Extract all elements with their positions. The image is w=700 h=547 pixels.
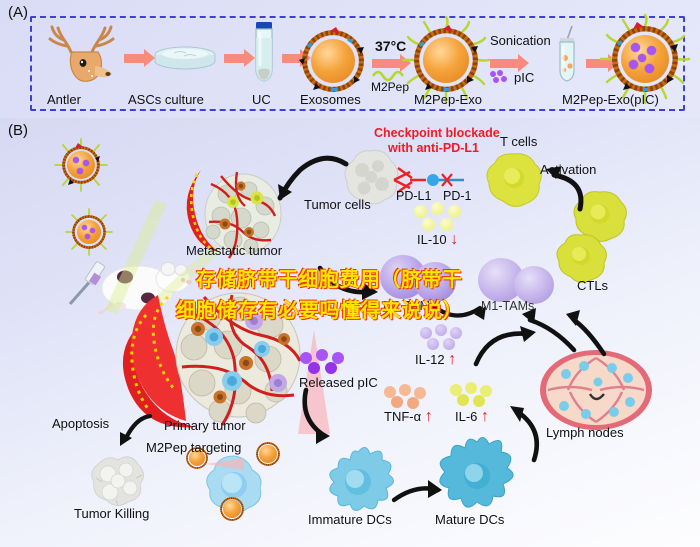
panel-a-label: (A) [8,4,28,21]
arrow-exosomes-to-m2pep-exo [372,59,402,68]
panel-a: (A) Antler AS [0,0,700,118]
targeting-exosome [220,497,244,521]
apoptosis-label: Apoptosis [52,416,109,431]
sonicator-tube-icon [552,26,582,88]
arrow-mature-dcs-up [494,404,544,464]
il-12-cytokine-dot [427,338,439,350]
targeting-beam [204,452,264,482]
lymph-node-illustration [536,348,656,436]
il-12-cytokine-dot [443,338,455,350]
arrow-to-ctls-second [560,300,612,358]
metastatic-tumor-label: Metastatic tumor [186,243,282,258]
watermark-line-1: 存储脐带干细胞费用（脐带干 [196,263,463,292]
il-10-cytokine-dot [414,205,427,218]
tumor-killing-label: Tumor Killing [74,506,149,521]
lymph-nodes-label: Lymph nodes [546,425,624,440]
il-12-up-arrow: ↑ [448,351,456,368]
checkpoint-blockade-line1-label: Checkpoint blockade [374,126,500,140]
released-pic-dots [298,348,370,374]
il-10-text: IL-10 [417,232,447,247]
ctls-label: CTLs [577,278,608,293]
m2pep-exo-pic-particle [612,26,678,92]
panel-a-pic-label: pIC [514,70,534,85]
il-6-label: IL-6 ↑ [455,408,489,426]
pd-l1-label: PD-L1 [396,189,431,203]
panel-a-step-antler-label: Antler [47,92,81,107]
exosome-proteins [62,146,100,184]
il-6-up-arrow: ↑ [481,408,489,425]
antler-deer-icon [45,22,123,84]
petri-dish-icon [152,43,218,73]
il-12-text: IL-12 [415,352,445,367]
m2pep-targeting-label: M2Pep targeting [146,440,241,455]
arrow-uc-to-exosomes [282,54,302,63]
il-10-cytokine-dot [431,202,444,215]
ctl-cell-illustration [552,233,610,283]
arrow-antler-to-culture [124,54,146,63]
immature-dcs-label: Immature DCs [308,512,392,527]
free-exosome-particle [72,215,106,249]
released-pic-label: Released pIC [299,375,378,390]
tnf-alpha-up-arrow: ↑ [425,408,433,425]
panel-a-step-ascs-label: ASCs culture [128,92,204,107]
scientific-figure: (A) Antler AS [0,0,700,547]
panel-a-step-exosomes-label: Exosomes [300,92,361,107]
tnf-alpha-cytokine-dots [382,384,442,410]
il-10-cytokine-dot [422,218,435,231]
arrow-immature-to-mature-dcs [392,478,448,508]
final-membrane-proteins [612,26,678,92]
m1-tams-label: M1-TAMs [481,299,534,313]
il-10-cytokine-dot [440,218,453,231]
free-exosome-particle [62,146,100,184]
tnf-alpha-label: TNF-α ↑ [384,408,433,426]
panel-b-label: (B) [8,122,28,139]
arrow-m2pepexo-to-sonication [490,59,520,68]
il-10-label: IL-10 ↓ [417,231,458,249]
panel-a-step-uc-label: UC [252,92,271,107]
watermark-line-2: 细胞储存有必要吗懂得来说说） [176,294,463,323]
panel-a-step-m2pepexo-label: M2Pep-Exo [414,92,482,107]
tumor-cells-label: Tumor cells [304,197,371,212]
arrow-tumor-to-dc-region [312,418,368,468]
checkpoint-blockade-line2-label: with anti-PD-L1 [388,141,479,155]
panel-a-temperature-label: 37°C [375,38,406,54]
primary-tumor-label: Primary tumor [164,418,246,433]
il-10-down-arrow: ↓ [450,231,458,248]
arrow-culture-to-uc [224,54,246,63]
tnf-alpha-text: TNF-α [384,409,421,424]
m2pep-exo-membrane-proteins [414,28,478,92]
exosome-membrane-proteins [302,30,364,92]
il-6-text: IL-6 [455,409,477,424]
exosome-particle [302,30,364,92]
panel-a-sonication-label: Sonication [490,33,551,48]
panel-a-m2pep-label: M2Pep [371,80,409,94]
pd-1-label: PD-1 [443,189,471,203]
il-12-cytokine-dot [420,327,432,339]
pic-molecule-icon [489,70,509,84]
panel-a-step-final-label: M2Pep-Exo(pIC) [562,92,659,107]
apoptotic-cell-illustration [84,452,150,508]
activation-label: Activation [540,162,596,177]
m2pep-exosome-particle [414,28,478,92]
il-10-cytokine-dot [448,205,461,218]
il-12-label: IL-12 ↑ [415,351,456,369]
targeting-exosome [256,442,280,466]
t-cells-label: T cells [500,134,537,149]
mature-dcs-label: Mature DCs [435,512,504,527]
